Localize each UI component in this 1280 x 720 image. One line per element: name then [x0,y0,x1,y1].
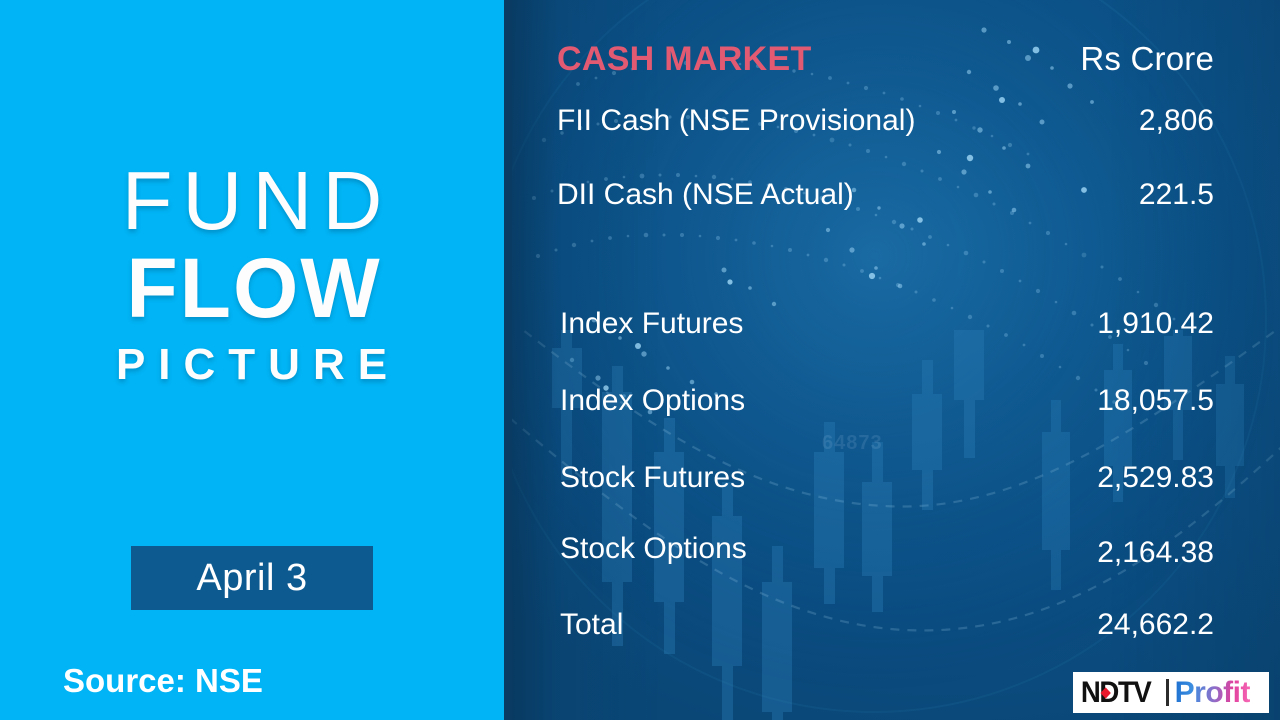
logo-line-picture: PICTURE [0,335,504,394]
table-header-row: CASH MARKET Rs Crore [504,40,1280,88]
table-row: Index Futures 1,910.42 [504,307,1280,353]
table-row: Index Options 18,057.5 [504,384,1280,430]
row-value: 1,910.42 [1097,307,1214,341]
row-label: Index Options [560,384,745,418]
row-value: 2,164.38 [1097,536,1214,570]
row-value: 2,806 [1139,104,1214,138]
date-badge: April 3 [131,546,373,610]
row-label: FII Cash (NSE Provisional) [557,104,915,138]
table-unit-label: Rs Crore [1080,40,1214,78]
row-label: Index Futures [560,307,743,341]
logo-line-flow: FLOW [0,241,504,335]
row-label: Stock Futures [560,461,745,495]
fund-flow-picture-logo: FUND FLOW PICTURE [0,160,504,395]
table-row: Total 24,662.2 [504,608,1280,654]
row-value: 221.5 [1139,178,1214,212]
row-value: 2,529.83 [1097,461,1214,495]
row-label: DII Cash (NSE Actual) [557,178,854,212]
ndtv-profit-logo: NDTV Profit [1073,672,1269,713]
profit-wordmark: Profit [1175,678,1250,708]
row-label: Stock Options [560,532,747,566]
panel-divider [504,0,512,720]
table-row: Stock Futures 2,529.83 [504,461,1280,507]
date-badge-label: April 3 [196,557,307,600]
source-label: Source: NSE [63,662,263,700]
ndtv-wordmark-text: NDTV [1081,676,1151,709]
table-row: Stock Options 2,164.38 [504,532,1280,578]
row-value: 18,057.5 [1097,384,1214,418]
logo-divider [1166,679,1169,706]
row-value: 24,662.2 [1097,608,1214,642]
logo-line-fund: FUND [0,160,504,241]
table-row: DII Cash (NSE Actual) 221.5 [504,178,1280,224]
ndtv-wordmark: NDTV [1079,678,1150,708]
table-row: FII Cash (NSE Provisional) 2,806 [504,104,1280,150]
infographic-canvas: 64873 CASH MARKET Rs Crore FII Cash (NSE… [0,0,1280,720]
row-label: Total [560,608,623,642]
cash-market-table: CASH MARKET Rs Crore FII Cash (NSE Provi… [504,0,1280,720]
table-title: CASH MARKET [557,40,812,79]
